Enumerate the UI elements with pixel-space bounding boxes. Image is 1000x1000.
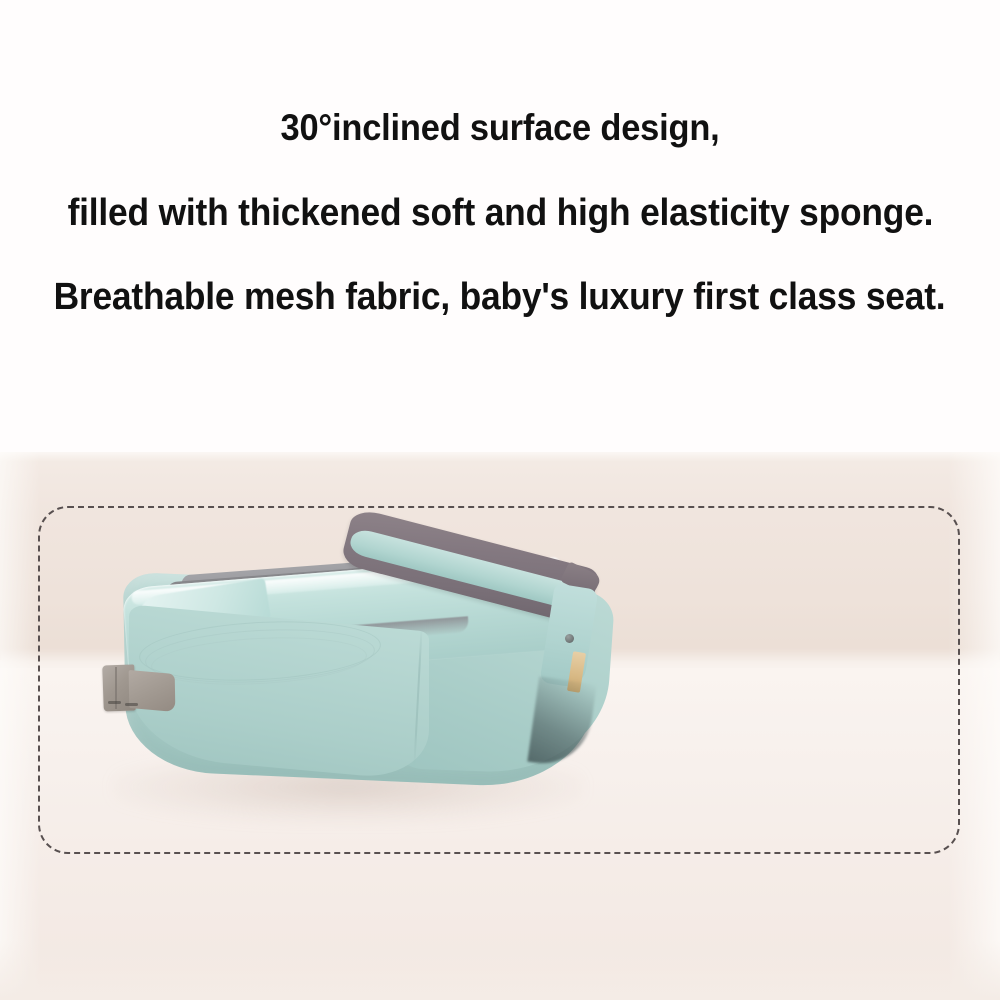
headline-line-2: filled with thickened soft and high elas… xyxy=(67,193,933,233)
product-buckle-slot-lower xyxy=(125,703,138,706)
product-shadow-crease xyxy=(527,676,596,769)
product-image-hip-seat-carrier xyxy=(95,530,615,830)
product-buckle-slot-upper xyxy=(108,701,121,704)
headline-copy-block: 30°inclined surface design, filled with … xyxy=(0,0,1000,455)
photo-backdrop-right-vignette xyxy=(948,452,1000,1000)
product-rivet xyxy=(565,634,574,643)
headline-line-3: Breathable mesh fabric, baby's luxury fi… xyxy=(54,277,946,317)
photo-backdrop-left-vignette xyxy=(0,452,40,1000)
headline-line-1: 30°inclined surface design, xyxy=(280,108,719,147)
photo-backdrop-top-highlight xyxy=(0,452,1000,462)
product-photo-panel xyxy=(0,452,1000,1000)
product-detail-page: 30°inclined surface design, filled with … xyxy=(0,0,1000,1000)
photo-backdrop-bottom-fade xyxy=(0,940,1000,1000)
